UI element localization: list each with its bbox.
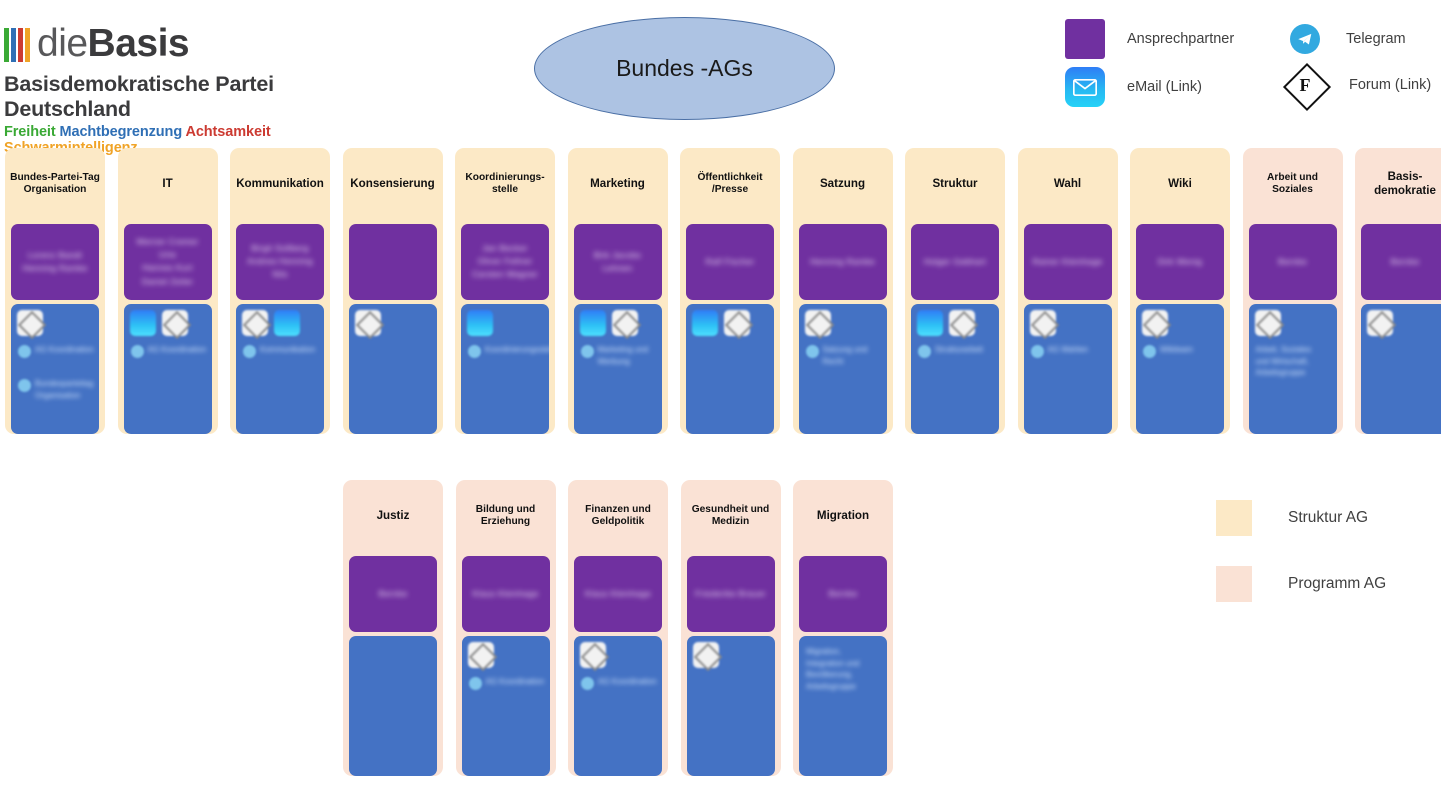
links-box[interactable]: Marketing und Werbung bbox=[574, 304, 662, 434]
link-row[interactable]: Migration, Integration und Bevölkerung, … bbox=[806, 646, 868, 692]
contact-box[interactable]: Henning Ramke bbox=[799, 224, 887, 300]
forum-icon[interactable] bbox=[612, 310, 638, 336]
ag-card[interactable]: Bildung und ErziehungKlaus KleinhageAG K… bbox=[456, 480, 556, 776]
ag-card-title: Satzung bbox=[793, 148, 893, 220]
contact-names: Klaus Kleinhage bbox=[462, 587, 550, 600]
link-icons bbox=[130, 310, 188, 336]
telegram-icon[interactable] bbox=[18, 379, 31, 392]
contact-box[interactable]: Klaus Kleinhage bbox=[462, 556, 550, 632]
link-row[interactable]: AG Koordination bbox=[581, 676, 657, 690]
forum-icon[interactable] bbox=[949, 310, 975, 336]
link-icons bbox=[242, 310, 300, 336]
forum-icon[interactable] bbox=[693, 642, 719, 668]
forum-icon[interactable] bbox=[1030, 310, 1056, 336]
contact-names: Henning Ramke bbox=[799, 255, 887, 268]
contact-box[interactable]: Birk JacobsLehnen bbox=[574, 224, 662, 300]
telegram-icon[interactable] bbox=[581, 345, 594, 358]
ag-card-title: Öffentlichkeit /Presse bbox=[680, 148, 780, 220]
contact-names: Dirk Wenig bbox=[1136, 255, 1224, 268]
telegram-icon[interactable] bbox=[468, 345, 481, 358]
links-box[interactable]: Satzung und Recht bbox=[799, 304, 887, 434]
link-label: AG Koordination bbox=[486, 676, 545, 688]
link-icons bbox=[1030, 310, 1056, 336]
legend-label-struktur-ag: Struktur AG bbox=[1288, 509, 1368, 527]
contact-names: Holger Gebhart bbox=[911, 255, 999, 268]
links-box[interactable]: AG Koordination bbox=[462, 636, 550, 776]
forum-icon[interactable] bbox=[1255, 310, 1281, 336]
links-box[interactable]: Kommunikation bbox=[236, 304, 324, 434]
contact-box[interactable] bbox=[349, 224, 437, 300]
links-box[interactable] bbox=[349, 304, 437, 434]
link-label: Wikiteam bbox=[1160, 344, 1193, 356]
link-row[interactable]: Wikiteam bbox=[1143, 344, 1193, 358]
link-icons bbox=[693, 642, 719, 668]
link-label: AG Koordination bbox=[148, 344, 207, 356]
telegram-icon[interactable] bbox=[469, 677, 482, 690]
ag-card[interactable]: Öffentlichkeit /PresseRalf Fischer bbox=[680, 148, 780, 434]
contact-box[interactable]: Bernke bbox=[1361, 224, 1441, 300]
ag-card[interactable]: MarketingBirk JacobsLehnenMarketing und … bbox=[568, 148, 668, 434]
links-box[interactable]: Wikiteam bbox=[1136, 304, 1224, 434]
contact-names: Ralf Fischer bbox=[686, 255, 774, 268]
ag-columns: Bundes-Partei-Tag OrganisationLorenz Ban… bbox=[0, 0, 1441, 797]
ag-card[interactable]: ITWerner CremerUrteHannes KurtDaniel Zei… bbox=[118, 148, 218, 434]
forum-icon[interactable] bbox=[162, 310, 188, 336]
ag-card[interactable]: KommunikationBirgit SollbergAndrea Henni… bbox=[230, 148, 330, 434]
link-icons bbox=[468, 642, 494, 668]
contact-box[interactable]: Jan BeckerOliver FellnerCarsten Wagner bbox=[461, 224, 549, 300]
contact-box[interactable]: Klaus Kleinhage bbox=[574, 556, 662, 632]
links-box[interactable]: AG Koordination bbox=[574, 636, 662, 776]
ag-card-title: Justiz bbox=[343, 480, 443, 552]
contact-names: Bernke bbox=[1361, 255, 1441, 268]
ag-card[interactable]: Basis-demokratieBernke bbox=[1355, 148, 1441, 434]
ag-card-title: Arbeit und Soziales bbox=[1243, 148, 1343, 220]
ag-card-title: IT bbox=[118, 148, 218, 220]
contact-box[interactable]: Werner CremerUrteHannes KurtDaniel Zeile… bbox=[124, 224, 212, 300]
forum-icon[interactable] bbox=[1367, 310, 1393, 336]
link-row[interactable]: AG Koordination bbox=[131, 344, 207, 358]
links-box[interactable]: AG KoordinationBundesparteitag Organisat… bbox=[11, 304, 99, 434]
contact-box[interactable]: Lorenz BandtHenning Ramke bbox=[11, 224, 99, 300]
link-label: Bundesparteitag Organisation bbox=[35, 378, 97, 401]
telegram-icon[interactable] bbox=[243, 345, 256, 358]
link-row[interactable]: Kommunikation bbox=[243, 344, 315, 358]
ag-card[interactable]: WikiDirk WenigWikiteam bbox=[1130, 148, 1230, 434]
ag-card-title: Kommunikation bbox=[230, 148, 330, 220]
ag-card-title: Marketing bbox=[568, 148, 668, 220]
link-row[interactable]: Koordinierungsstelle bbox=[468, 344, 547, 358]
contact-names: Birgit SollbergAndrea HenningNils bbox=[236, 242, 324, 282]
telegram-icon[interactable] bbox=[806, 345, 819, 358]
links-box[interactable] bbox=[687, 636, 775, 776]
contact-box[interactable]: Rainer Kleinhage bbox=[1024, 224, 1112, 300]
contact-names: Klaus Kleinhage bbox=[574, 587, 662, 600]
email-icon[interactable] bbox=[130, 310, 156, 336]
link-icons bbox=[1367, 310, 1393, 336]
ag-card-title: Konsensierung bbox=[343, 148, 443, 220]
ag-card[interactable]: Konsensierung bbox=[343, 148, 443, 434]
link-icons bbox=[805, 310, 831, 336]
ag-card[interactable]: Arbeit und SozialesBernkeArbeit, Soziale… bbox=[1243, 148, 1343, 434]
contact-box[interactable]: Holger Gebhart bbox=[911, 224, 999, 300]
legend-item-programm-ag: Programm AG bbox=[1216, 566, 1386, 602]
link-icons bbox=[692, 310, 750, 336]
forum-icon[interactable] bbox=[1142, 310, 1168, 336]
email-icon[interactable] bbox=[274, 310, 300, 336]
contact-names: Bernke bbox=[799, 587, 887, 600]
links-box[interactable]: Strukturarbeit bbox=[911, 304, 999, 434]
contact-box[interactable]: Bernke bbox=[1249, 224, 1337, 300]
contact-names: Rainer Kleinhage bbox=[1024, 255, 1112, 268]
contact-names: Lorenz BandtHenning Ramke bbox=[11, 249, 99, 275]
link-icons bbox=[17, 310, 43, 336]
contact-box[interactable]: Ralf Fischer bbox=[686, 224, 774, 300]
ag-card-title: Koordinierungs-stelle bbox=[455, 148, 555, 220]
telegram-icon[interactable] bbox=[131, 345, 144, 358]
ag-card[interactable]: Koordinierungs-stelleJan BeckerOliver Fe… bbox=[455, 148, 555, 434]
legend-label-programm-ag: Programm AG bbox=[1288, 575, 1386, 593]
ag-card-title: Bildung und Erziehung bbox=[456, 480, 556, 552]
diagram-canvas: dieBasis Basisdemokratische Partei Deuts… bbox=[0, 0, 1441, 797]
ag-card-title: Migration bbox=[793, 480, 893, 552]
link-label: Marketing und Werbung bbox=[598, 344, 660, 367]
contact-box[interactable]: Dirk Wenig bbox=[1136, 224, 1224, 300]
ag-card-title: Finanzen und Geldpolitik bbox=[568, 480, 668, 552]
contact-names: Werner CremerUrteHannes KurtDaniel Zeile… bbox=[124, 236, 212, 289]
link-row[interactable]: Strukturarbeit bbox=[918, 344, 983, 358]
ag-card[interactable]: JustizBernke bbox=[343, 480, 443, 776]
email-icon[interactable] bbox=[467, 310, 493, 336]
contact-names: Bernke bbox=[349, 587, 437, 600]
ag-card-title: Struktur bbox=[905, 148, 1005, 220]
link-icons bbox=[580, 642, 606, 668]
link-icons bbox=[467, 310, 493, 336]
contact-names: Bernke bbox=[1249, 255, 1337, 268]
links-box[interactable]: AG Wahlen bbox=[1024, 304, 1112, 434]
contact-names: Jan BeckerOliver FellnerCarsten Wagner bbox=[461, 242, 549, 282]
link-icons bbox=[1255, 310, 1281, 336]
programm-ag-swatch-icon bbox=[1216, 566, 1252, 602]
forum-icon[interactable] bbox=[17, 310, 43, 336]
link-row[interactable]: AG Koordination bbox=[469, 676, 545, 690]
link-label: AG Wahlen bbox=[1048, 344, 1089, 356]
ag-card[interactable]: SatzungHenning RamkeSatzung und Recht bbox=[793, 148, 893, 434]
link-row[interactable]: AG Koordination bbox=[18, 344, 94, 358]
email-icon[interactable] bbox=[580, 310, 606, 336]
contact-box[interactable]: Birgit SollbergAndrea HenningNils bbox=[236, 224, 324, 300]
links-box[interactable] bbox=[1361, 304, 1441, 434]
link-row[interactable]: AG Wahlen bbox=[1031, 344, 1089, 358]
link-label: Kommunikation bbox=[260, 344, 315, 356]
link-label: Migration, Integration und Bevölkerung, … bbox=[806, 646, 868, 692]
telegram-icon[interactable] bbox=[581, 677, 594, 690]
ag-card[interactable]: Bundes-Partei-Tag OrganisationLorenz Ban… bbox=[5, 148, 105, 434]
link-icons bbox=[580, 310, 638, 336]
link-label: AG Koordination bbox=[35, 344, 94, 356]
ag-card[interactable]: MigrationBernkeMigration, Integration un… bbox=[793, 480, 893, 776]
telegram-icon[interactable] bbox=[18, 345, 31, 358]
struktur-ag-swatch-icon bbox=[1216, 500, 1252, 536]
link-label: Koordinierungsstelle bbox=[485, 344, 547, 356]
ag-card-title: Bundes-Partei-Tag Organisation bbox=[5, 148, 105, 220]
ag-card[interactable]: Gesundheit und MedizinFriederike Brauer bbox=[681, 480, 781, 776]
link-label: Strukturarbeit bbox=[935, 344, 983, 356]
telegram-icon[interactable] bbox=[1031, 345, 1044, 358]
links-box[interactable]: Koordinierungsstelle bbox=[461, 304, 549, 434]
link-label: Satzung und Recht bbox=[823, 344, 885, 367]
contact-names: Friederike Brauer bbox=[687, 587, 775, 600]
ag-card-title: Wiki bbox=[1130, 148, 1230, 220]
links-box[interactable]: Arbeit, Soziales und Wirtschaft, Arbeits… bbox=[1249, 304, 1337, 434]
ag-card-title: Basis-demokratie bbox=[1355, 148, 1441, 220]
contact-names: Birk JacobsLehnen bbox=[574, 249, 662, 275]
forum-icon[interactable] bbox=[580, 642, 606, 668]
telegram-icon[interactable] bbox=[1143, 345, 1156, 358]
links-box[interactable]: Migration, Integration und Bevölkerung, … bbox=[799, 636, 887, 776]
forum-icon[interactable] bbox=[805, 310, 831, 336]
links-box[interactable] bbox=[349, 636, 437, 776]
link-row[interactable]: Marketing und Werbung bbox=[581, 344, 660, 367]
email-icon[interactable] bbox=[692, 310, 718, 336]
link-row[interactable]: Arbeit, Soziales und Wirtschaft, Arbeits… bbox=[1256, 344, 1318, 379]
link-row[interactable]: Satzung und Recht bbox=[806, 344, 885, 367]
legend-bottom: Struktur AG Programm AG bbox=[1216, 500, 1386, 632]
link-icons bbox=[355, 310, 381, 336]
ag-card[interactable]: StrukturHolger GebhartStrukturarbeit bbox=[905, 148, 1005, 434]
link-label: AG Koordination bbox=[598, 676, 657, 688]
ag-card[interactable]: Finanzen und GeldpolitikKlaus KleinhageA… bbox=[568, 480, 668, 776]
telegram-icon[interactable] bbox=[918, 345, 931, 358]
link-icons bbox=[1142, 310, 1168, 336]
link-row[interactable]: Bundesparteitag Organisation bbox=[18, 378, 97, 401]
link-label: Arbeit, Soziales und Wirtschaft, Arbeits… bbox=[1256, 344, 1318, 379]
contact-box[interactable]: Bernke bbox=[349, 556, 437, 632]
contact-box[interactable]: Friederike Brauer bbox=[687, 556, 775, 632]
forum-icon[interactable] bbox=[724, 310, 750, 336]
forum-icon[interactable] bbox=[468, 642, 494, 668]
forum-icon[interactable] bbox=[355, 310, 381, 336]
email-icon[interactable] bbox=[917, 310, 943, 336]
links-box[interactable] bbox=[686, 304, 774, 434]
forum-icon[interactable] bbox=[242, 310, 268, 336]
ag-card-title: Gesundheit und Medizin bbox=[681, 480, 781, 552]
links-box[interactable]: AG Koordination bbox=[124, 304, 212, 434]
ag-card[interactable]: WahlRainer KleinhageAG Wahlen bbox=[1018, 148, 1118, 434]
legend-item-struktur-ag: Struktur AG bbox=[1216, 500, 1386, 536]
ag-card-title: Wahl bbox=[1018, 148, 1118, 220]
link-icons bbox=[917, 310, 975, 336]
contact-box[interactable]: Bernke bbox=[799, 556, 887, 632]
